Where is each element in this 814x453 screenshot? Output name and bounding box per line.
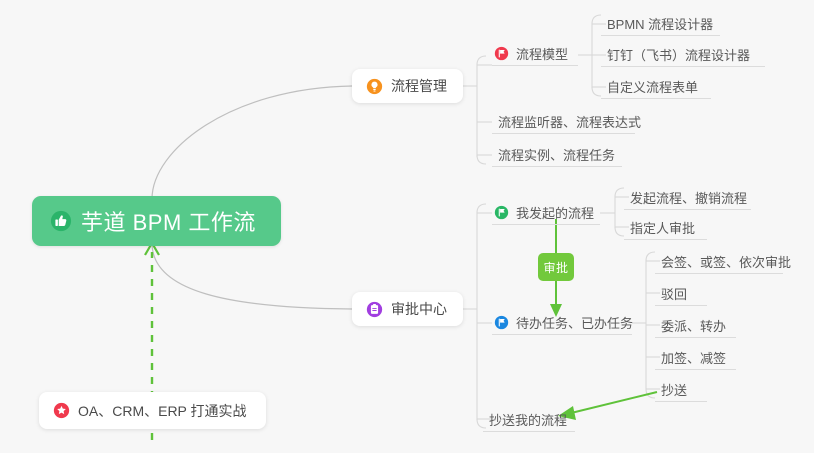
- leaf-underline: [601, 35, 720, 36]
- wire-todo-cap-bottom: [646, 389, 655, 398]
- leaf-add-remove-sign[interactable]: 加签、减签: [655, 346, 736, 368]
- clipboard-icon: [366, 301, 383, 318]
- leaf-assignee-approval[interactable]: 指定人审批: [624, 216, 707, 238]
- leaf-label: 流程监听器、流程表达式: [498, 112, 641, 131]
- leaf-label: 驳回: [661, 284, 687, 303]
- wire-todo-cap-top: [646, 252, 655, 261]
- leaf-instance-task[interactable]: 流程实例、流程任务: [492, 143, 622, 165]
- lightbulb-icon: [366, 78, 383, 95]
- leaf-label: 委派、转办: [661, 316, 726, 335]
- flag-icon: [494, 46, 509, 61]
- leaf-underline: [655, 305, 707, 306]
- approval-tag[interactable]: 审批: [538, 253, 574, 281]
- leaf-underline: [492, 133, 635, 134]
- leaf-label: BPMN 流程设计器: [607, 14, 713, 33]
- root-label: 芋道 BPM 工作流: [81, 205, 256, 237]
- wire-root-to-process-management: [152, 86, 352, 199]
- mindmap-canvas: 芋道 BPM 工作流 流程管理 流程模型 BPMN 流程设计器: [0, 0, 814, 453]
- leaf-underline: [601, 66, 765, 67]
- leaf-underline: [601, 98, 711, 99]
- root-node[interactable]: 芋道 BPM 工作流: [32, 196, 281, 246]
- node-process-management[interactable]: 流程管理: [352, 69, 463, 103]
- leaf-label: 自定义流程表单: [607, 77, 698, 96]
- node-label: 流程管理: [391, 76, 447, 96]
- node-label: 我发起的流程: [516, 203, 594, 222]
- node-process-model[interactable]: 流程模型: [492, 42, 578, 64]
- leaf-delegate-transfer[interactable]: 委派、转办: [655, 314, 736, 336]
- leaf-label: 加签、减签: [661, 348, 726, 367]
- node-label: 审批中心: [391, 299, 447, 319]
- wire-pm-spine-cap-top: [477, 56, 486, 65]
- leaf-cc[interactable]: 抄送: [655, 378, 707, 400]
- wire-mystart-cap-top: [615, 188, 624, 197]
- leaf-label: 会签、或签、依次审批: [661, 252, 791, 271]
- node-label: 待办任务、已办任务: [516, 313, 633, 332]
- leaf-underline: [624, 209, 751, 210]
- leaf-underline: [655, 369, 736, 370]
- wire-model-cap-top: [592, 15, 601, 24]
- leaf-label: 钉钉（飞书）流程设计器: [607, 45, 750, 64]
- leaf-underline: [655, 273, 783, 274]
- leaf-underline: [492, 224, 600, 225]
- leaf-bpmn-designer[interactable]: BPMN 流程设计器: [601, 12, 720, 34]
- node-approval-center[interactable]: 审批中心: [352, 292, 463, 326]
- node-integration[interactable]: OA、CRM、ERP 打通实战: [39, 392, 266, 429]
- leaf-cc-to-me[interactable]: 抄送我的流程: [483, 408, 575, 430]
- leaf-underline: [655, 337, 736, 338]
- leaf-label: 发起流程、撤销流程: [630, 188, 747, 207]
- leaf-underline: [483, 431, 575, 432]
- leaf-underline: [492, 334, 632, 335]
- node-my-started-process[interactable]: 我发起的流程: [492, 201, 600, 223]
- node-todo-done-tasks[interactable]: 待办任务、已办任务: [492, 311, 632, 333]
- leaf-custom-form[interactable]: 自定义流程表单: [601, 75, 711, 97]
- approval-tag-label: 审批: [543, 259, 568, 276]
- leaf-label: 流程实例、流程任务: [498, 145, 615, 164]
- leaf-label: 指定人审批: [630, 218, 695, 237]
- star-icon: [53, 402, 70, 419]
- wire-mystart-cap-bottom: [615, 227, 624, 236]
- leaf-underline: [492, 166, 622, 167]
- flag-icon: [494, 205, 509, 220]
- wire-pm-spine-cap-bottom: [477, 155, 486, 164]
- leaf-label: 抄送我的流程: [489, 410, 567, 429]
- leaf-underline: [624, 239, 707, 240]
- leaf-label: 抄送: [661, 380, 687, 399]
- arrow-cc-to-ccme: [567, 392, 657, 414]
- leaf-start-cancel-process[interactable]: 发起流程、撤销流程: [624, 186, 751, 208]
- leaf-underline: [655, 401, 707, 402]
- wire-model-cap-bottom: [592, 87, 601, 96]
- leaf-countersign[interactable]: 会签、或签、依次审批: [655, 250, 783, 272]
- leaf-reject[interactable]: 驳回: [655, 282, 707, 304]
- node-label: OA、CRM、ERP 打通实战: [78, 401, 247, 421]
- wire-root-to-approval-center: [152, 243, 352, 309]
- node-label: 流程模型: [516, 44, 568, 63]
- leaf-underline: [492, 65, 578, 66]
- leaf-dingtalk-designer[interactable]: 钉钉（飞书）流程设计器: [601, 43, 765, 65]
- wire-ac-cap-top: [477, 204, 486, 213]
- thumbs-up-icon: [50, 210, 72, 232]
- flag-icon: [494, 315, 509, 330]
- leaf-listener-expression[interactable]: 流程监听器、流程表达式: [492, 110, 635, 132]
